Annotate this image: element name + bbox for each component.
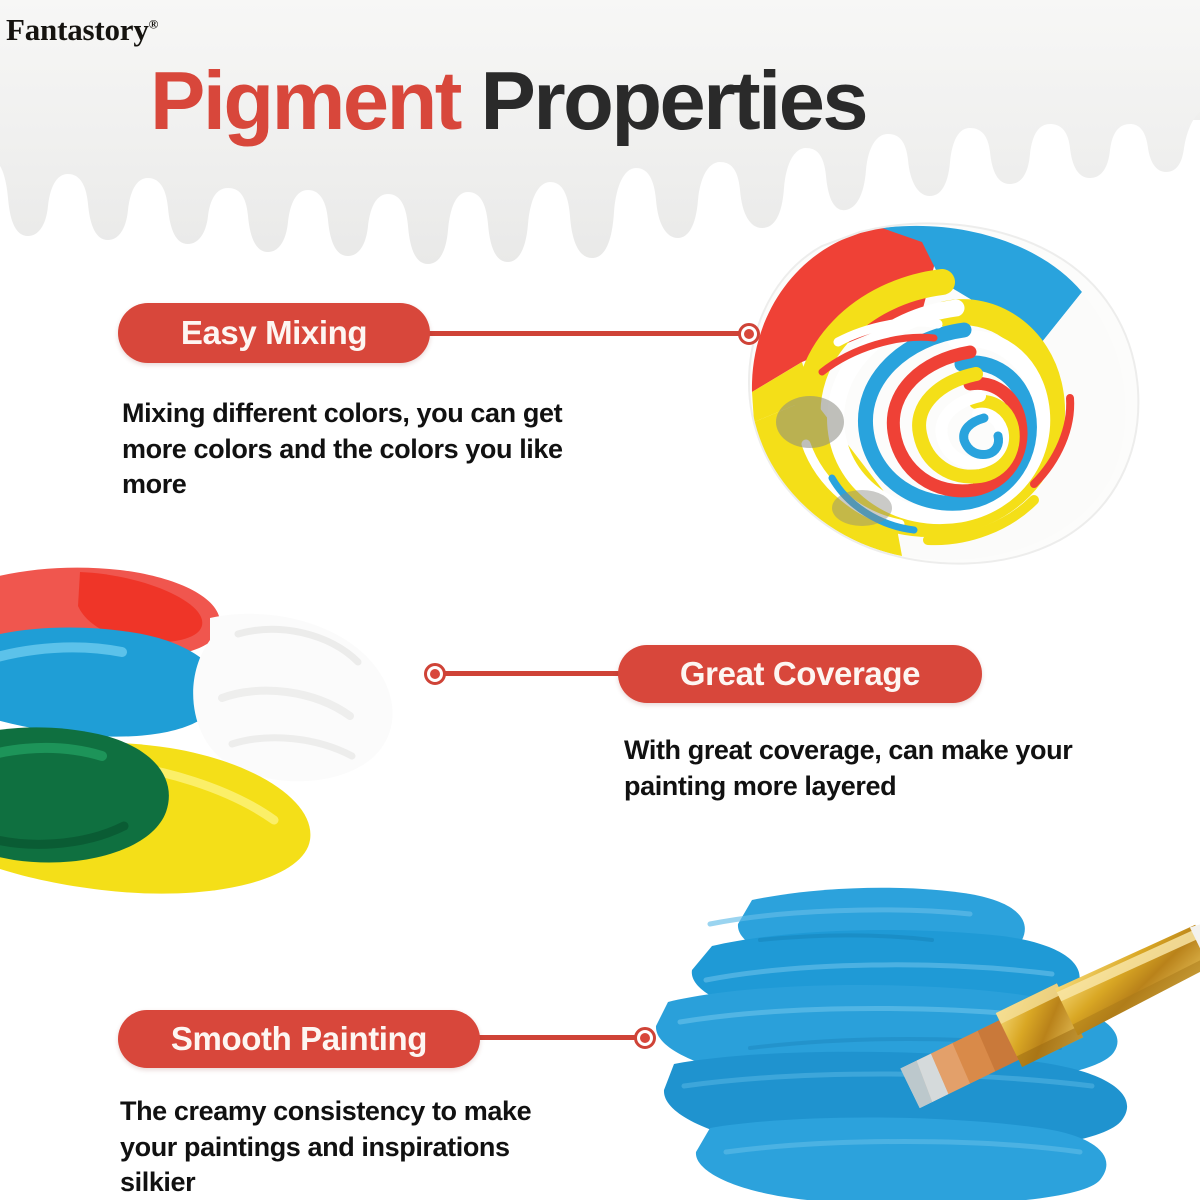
brand-logo: Fantastory® [6, 12, 158, 48]
page-title-accent: Pigment [150, 54, 460, 147]
blue-brush-stroke-image [640, 880, 1200, 1200]
page-title: Pigment Properties [150, 59, 866, 142]
connector-dot-easy-mixing [738, 323, 760, 345]
feature-badge-great-coverage[interactable]: Great Coverage [618, 645, 982, 703]
feature-badge-smooth-painting[interactable]: Smooth Painting [118, 1010, 480, 1068]
paint-swatches-image [0, 548, 430, 948]
brand-name: Fantastory [6, 12, 149, 47]
page-title-rest: Properties [460, 54, 866, 147]
paint-swirl-image [742, 222, 1142, 567]
feature-description-smooth-painting: The creamy consistency to make your pain… [120, 1094, 550, 1200]
connector-dot-great-coverage [424, 663, 446, 685]
feature-description-great-coverage: With great coverage, can make your paint… [624, 733, 1124, 804]
registered-mark-icon: ® [149, 17, 159, 32]
connector-line-easy-mixing [420, 331, 750, 336]
connector-line-great-coverage [432, 671, 632, 676]
feature-badge-easy-mixing[interactable]: Easy Mixing [118, 303, 430, 363]
feature-description-easy-mixing: Mixing different colors, you can get mor… [122, 396, 602, 503]
infographic-page: Fantastory® Pigment Properties [0, 0, 1200, 1200]
connector-line-smooth-painting [468, 1035, 646, 1040]
connector-dot-smooth-painting [634, 1027, 656, 1049]
